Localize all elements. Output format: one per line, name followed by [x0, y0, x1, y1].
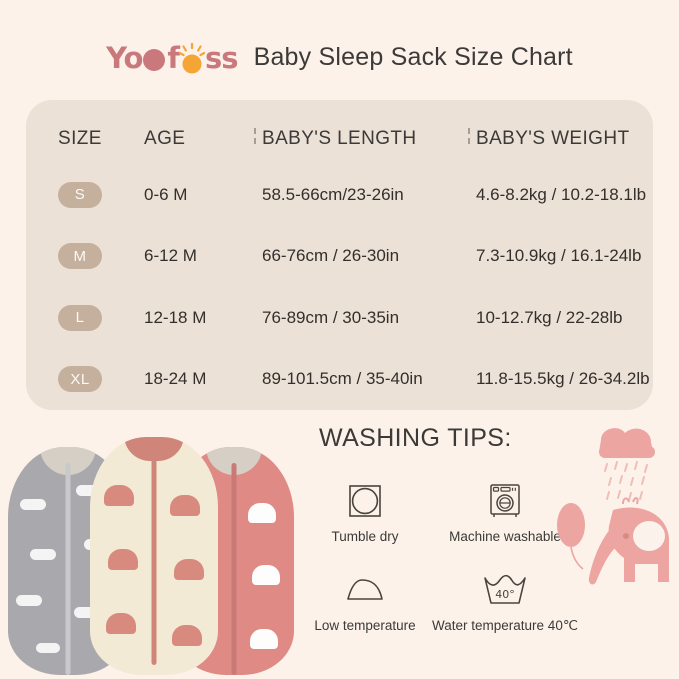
elephant-motif	[174, 559, 204, 580]
size-badge-cell: L	[58, 305, 144, 331]
tumble-dry-icon	[348, 479, 382, 523]
washing-tips-section: WASHING TIPS: Tumble dry	[305, 424, 595, 634]
elephant-motif	[106, 613, 136, 634]
washing-tip-tumble-dry: Tumble dry	[305, 479, 425, 544]
cloud-motif	[20, 499, 46, 510]
elephant-motif	[172, 625, 202, 646]
elephant-motif	[252, 565, 280, 585]
brand-logo-text-3: ss	[205, 44, 238, 73]
table-row: M 6-12 M 66-76cm / 26-30in 7.3-10.9kg / …	[26, 226, 653, 288]
product-image	[6, 422, 296, 677]
washing-tips-grid: Tumble dry	[305, 479, 595, 634]
size-chart-table: SIZE AGE BABY'S LENGTH BABY'S WEIGHT S 0…	[26, 100, 653, 410]
elephant-motif	[170, 495, 200, 516]
bottom-section: WASHING TIPS: Tumble dry	[0, 412, 679, 679]
washing-tip-label: Machine washable	[449, 529, 561, 544]
table-row: L 12-18 M 76-89cm / 30-35in 10-12.7kg / …	[26, 287, 653, 349]
washing-tip-label: Tumble dry	[331, 529, 398, 544]
pink-elephant-illustration	[589, 498, 669, 584]
water-temp-40-icon: 40°	[482, 568, 528, 612]
washing-tip-low-temperature: Low temperature	[305, 568, 425, 634]
cell-age: 0-6 M	[144, 185, 248, 205]
elephant-motif	[108, 549, 138, 570]
svg-text:40°: 40°	[495, 588, 515, 601]
status-badge: M	[58, 243, 102, 269]
cell-length: 66-76cm / 26-30in	[262, 246, 462, 266]
cell-age: 12-18 M	[144, 308, 248, 328]
cell-age: 18-24 M	[144, 369, 248, 389]
column-separator-1	[248, 128, 262, 150]
page-header: Yo f ss Baby Sleep Sack Size Chart	[0, 36, 679, 78]
dotted-divider-icon	[254, 128, 256, 150]
cell-weight: 4.6-8.2kg / 10.2-18.1lb	[476, 185, 653, 205]
column-header-length: BABY'S LENGTH	[262, 128, 462, 150]
status-badge: S	[58, 182, 102, 208]
iron-low-temp-icon	[345, 568, 385, 612]
sack-zipper	[232, 463, 237, 675]
sack-zipper	[66, 463, 71, 675]
cell-length: 76-89cm / 30-35in	[262, 308, 462, 328]
column-header-age: AGE	[144, 128, 248, 150]
column-header-weight: BABY'S WEIGHT	[476, 128, 653, 150]
column-header-size: SIZE	[58, 128, 144, 150]
brand-logo: Yo f ss	[106, 43, 237, 73]
elephant-motif	[250, 629, 278, 649]
cell-weight: 10-12.7kg / 22-28lb	[476, 308, 653, 328]
cell-weight: 11.8-15.5kg / 26-34.2lb	[476, 369, 653, 389]
cell-weight: 7.3-10.9kg / 16.1-24lb	[476, 246, 653, 266]
cloud-motif	[16, 595, 42, 606]
washing-tip-label: Water temperature 40℃	[432, 618, 578, 634]
page-title: Baby Sleep Sack Size Chart	[254, 43, 573, 72]
brand-logo-text-1: Yo	[106, 44, 142, 73]
size-chart-panel: SIZE AGE BABY'S LENGTH BABY'S WEIGHT S 0…	[26, 100, 653, 410]
size-badge-cell: S	[58, 182, 144, 208]
rain-cloud-illustration	[599, 428, 655, 500]
washing-tip-label: Low temperature	[314, 618, 415, 633]
table-header-row: SIZE AGE BABY'S LENGTH BABY'S WEIGHT	[26, 100, 653, 164]
cell-age: 6-12 M	[144, 246, 248, 266]
cream-elephant-sleep-sack	[90, 437, 218, 675]
cell-length: 58.5-66cm/23-26in	[262, 185, 462, 205]
size-badge-cell: M	[58, 243, 144, 269]
cloud-motif	[36, 643, 60, 653]
sun-icon	[179, 43, 205, 73]
table-row: S 0-6 M 58.5-66cm/23-26in 4.6-8.2kg / 10…	[26, 164, 653, 226]
sack-zipper	[152, 453, 157, 665]
decorative-illustration	[557, 412, 677, 612]
table-row: XL 18-24 M 89-101.5cm / 35-40in 11.8-15.…	[26, 349, 653, 411]
cell-length: 89-101.5cm / 35-40in	[262, 369, 462, 389]
elephant-motif	[248, 503, 276, 523]
cloud-motif	[30, 549, 56, 560]
size-badge-cell: XL	[58, 366, 144, 392]
machine-washable-icon	[488, 479, 522, 523]
balloon-illustration	[557, 503, 585, 569]
status-badge: XL	[58, 366, 102, 392]
dotted-divider-icon	[468, 128, 470, 150]
brand-logo-o-mark	[143, 49, 165, 71]
brand-logo-text-2: f	[167, 44, 179, 73]
washing-tips-title: WASHING TIPS:	[319, 424, 595, 453]
elephant-motif	[104, 485, 134, 506]
column-separator-2	[462, 128, 476, 150]
status-badge: L	[58, 305, 102, 331]
